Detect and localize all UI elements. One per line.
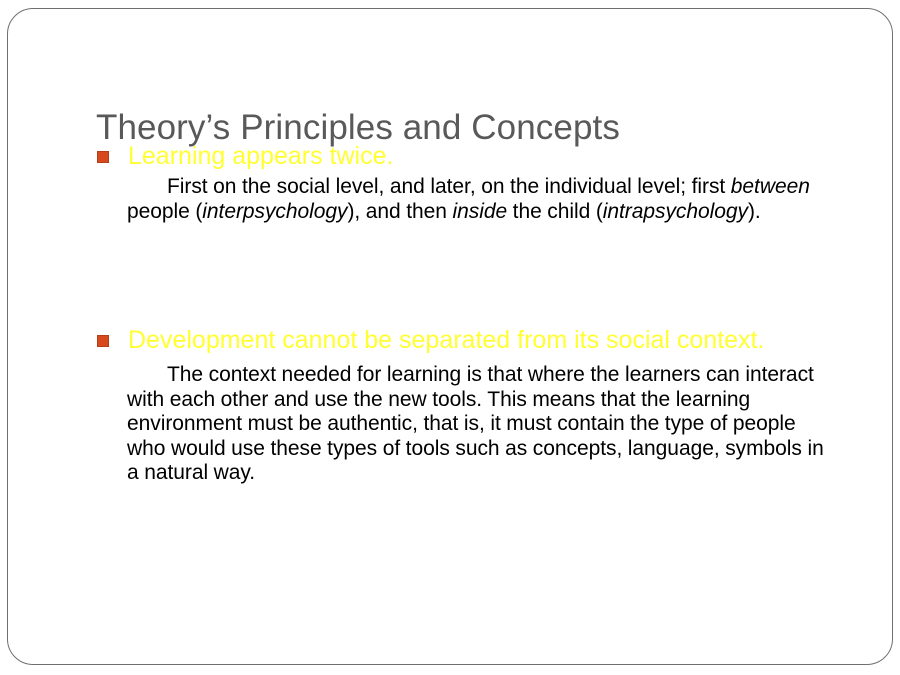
slide-canvas: Theory’s Principles and Concepts Learnin…	[0, 0, 900, 675]
bullet-row: Learning appears twice.	[96, 141, 856, 171]
square-bullet-icon	[97, 335, 109, 347]
bullet-section-learning-appears-twice: Learning appears twice. First on the soc…	[96, 141, 856, 224]
bullet-heading: Learning appears twice.	[128, 141, 856, 171]
slide-content: Theory’s Principles and Concepts Learnin…	[0, 0, 900, 675]
bullet-paragraph: The context needed for learning is that …	[96, 363, 837, 486]
bullet-section-development-social-context: Development cannot be separated from its…	[96, 325, 856, 486]
square-bullet-icon	[97, 151, 109, 163]
bullet-row: Development cannot be separated from its…	[96, 325, 856, 355]
bullet-paragraph: First on the social level, and later, on…	[96, 175, 843, 224]
bullet-heading: Development cannot be separated from its…	[128, 325, 828, 355]
